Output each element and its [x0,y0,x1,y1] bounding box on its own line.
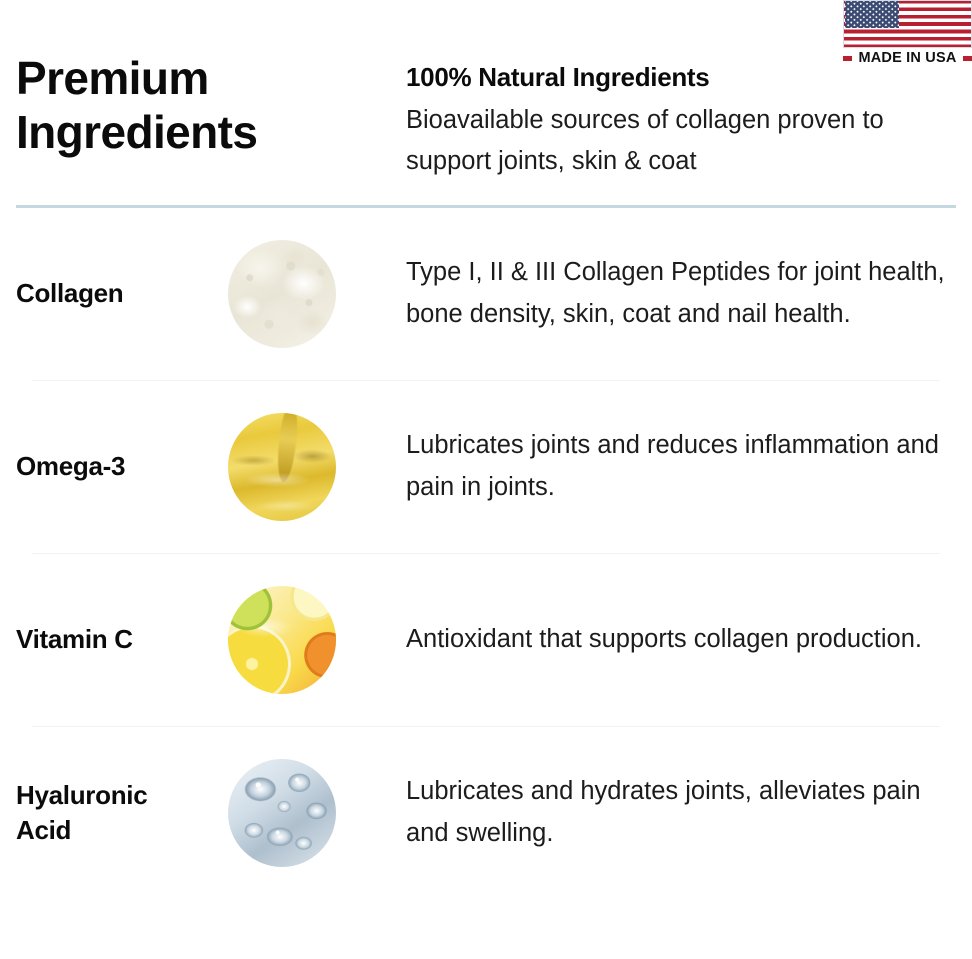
made-in-usa-caption: MADE IN USA [843,50,972,66]
header-subtitle: Bioavailable sources of collagen proven … [406,100,936,183]
header: Premium Ingredients 100% Natural Ingredi… [0,0,972,183]
usa-flag-icon [843,0,972,48]
made-in-usa-text: MADE IN USA [858,50,956,66]
ingredient-description: Lubricates joints and reduces inflammati… [406,425,956,508]
ingredient-thumb-cell [228,240,406,348]
ingredient-list: Collagen Type I, II & III Collagen Pepti… [0,208,972,899]
dash-left-icon [843,56,852,61]
page-title: Premium Ingredients [16,52,406,160]
collagen-powder-image [228,240,336,348]
ingredient-name: Vitamin C [16,622,228,657]
ingredient-thumb-cell [228,759,406,867]
ingredient-description: Type I, II & III Collagen Peptides for j… [406,252,956,335]
ingredient-row-hyaluronic-acid: Hyaluronic Acid Lubricates and hydrates … [16,727,956,899]
ingredient-name: Collagen [16,276,228,311]
ingredient-thumb-cell [228,586,406,694]
ingredient-description: Antioxidant that supports collagen produ… [406,619,956,660]
ingredient-description: Lubricates and hydrates joints, alleviat… [406,771,956,854]
ingredient-thumb-cell [228,413,406,521]
made-in-usa-badge: MADE IN USA [843,0,972,74]
water-droplets-image [228,759,336,867]
header-left: Premium Ingredients [16,52,406,183]
ingredient-row-vitamin-c: Vitamin C Antioxidant that supports coll… [16,554,956,726]
ingredient-row-omega-3: Omega-3 Lubricates joints and reduces in… [16,381,956,553]
dash-right-icon [963,56,972,61]
ingredient-name: Omega-3 [16,449,228,484]
citrus-fruit-image [228,586,336,694]
ingredient-name: Hyaluronic Acid [16,778,228,848]
ingredient-row-collagen: Collagen Type I, II & III Collagen Pepti… [16,208,956,380]
flag-border [843,0,972,48]
omega-oil-image [228,413,336,521]
